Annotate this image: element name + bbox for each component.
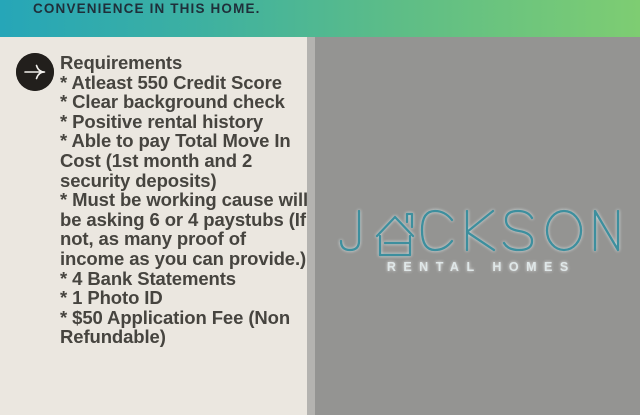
- scrollbar-thumb[interactable]: [307, 37, 315, 415]
- logo-panel: RENTAL HOMES: [315, 37, 640, 415]
- requirements-text: Requirements * Atleast 550 Credit Score …: [60, 53, 307, 347]
- brand-logo: RENTAL HOMES: [315, 205, 640, 274]
- jackson-wordmark-icon: [333, 205, 623, 259]
- requirements-panel: Requirements * Atleast 550 Credit Score …: [0, 37, 307, 415]
- screenshot-root: CONVENIENCE IN THIS HOME. Requirements *…: [0, 0, 640, 415]
- vertical-scrollbar[interactable]: [307, 37, 315, 415]
- banner-headline: CONVENIENCE IN THIS HOME.: [33, 1, 261, 17]
- logo-subtitle: RENTAL HOMES: [315, 260, 640, 274]
- arrow-right-icon: [16, 53, 54, 91]
- top-banner: CONVENIENCE IN THIS HOME.: [0, 0, 640, 37]
